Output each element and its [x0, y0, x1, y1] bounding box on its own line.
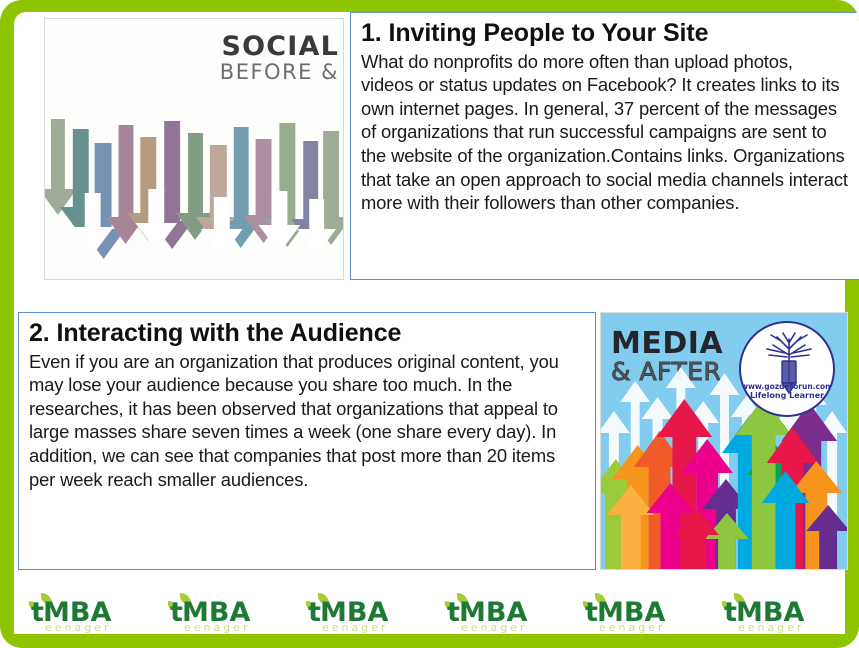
tmba-logo: tMBAeenager — [439, 589, 559, 633]
slide-content-area: SOCIAL BEFORE & — [14, 12, 845, 588]
pencil-tree-icon — [741, 323, 835, 417]
svg-text:eenager: eenager — [45, 621, 112, 633]
svg-text:eenager: eenager — [461, 621, 528, 633]
card-1-image: SOCIAL BEFORE & — [44, 18, 344, 280]
card-1-text-box: 1. Inviting People to Your Site What do … — [350, 12, 859, 280]
slide-frame: SOCIAL BEFORE & — [0, 0, 859, 648]
tmba-logo: tMBAeenager — [162, 589, 282, 633]
card-2-title: 2. Interacting with the Audience — [29, 319, 583, 349]
card-1: SOCIAL BEFORE & — [32, 12, 859, 280]
card-2-image-headline-line1: MEDIA — [611, 329, 723, 359]
card-2-image: MEDIA & AFTER — [600, 312, 848, 570]
card-1-image-headline: SOCIAL BEFORE & — [220, 33, 339, 83]
tmba-logo: tMBAeenager — [577, 589, 697, 633]
card-1-body: What do nonprofits do more often than up… — [361, 50, 849, 215]
card-1-title: 1. Inviting People to Your Site — [361, 19, 849, 49]
svg-text:eenager: eenager — [738, 621, 805, 633]
svg-text:eenager: eenager — [184, 621, 251, 633]
badge-text: www.gozdetorun.com Lifelong Learner — [741, 382, 833, 401]
tmba-logo: tMBAeenager — [300, 589, 420, 633]
footer-logo-strip: tMBAeenager tMBAeenager tMBAeenager tMBA… — [14, 588, 845, 634]
site-badge: www.gozdetorun.com Lifelong Learner — [739, 321, 835, 417]
tmba-logo: tMBAeenager — [716, 589, 836, 633]
card-2-body: Even if you are an organization that pro… — [29, 350, 583, 492]
card-2: 2. Interacting with the Audience Even if… — [18, 312, 848, 570]
badge-slogan: Lifelong Learner — [741, 391, 833, 401]
card-1-image-headline-line1: SOCIAL — [220, 33, 339, 61]
svg-text:eenager: eenager — [322, 621, 389, 633]
card-1-image-headline-line2: BEFORE & — [220, 61, 339, 83]
badge-url: www.gozdetorun.com — [741, 382, 833, 391]
tmba-logo: tMBAeenager — [23, 589, 143, 633]
card-2-text-box: 2. Interacting with the Audience Even if… — [18, 312, 596, 570]
down-arrows-graphic — [45, 119, 343, 279]
svg-text:eenager: eenager — [599, 621, 666, 633]
